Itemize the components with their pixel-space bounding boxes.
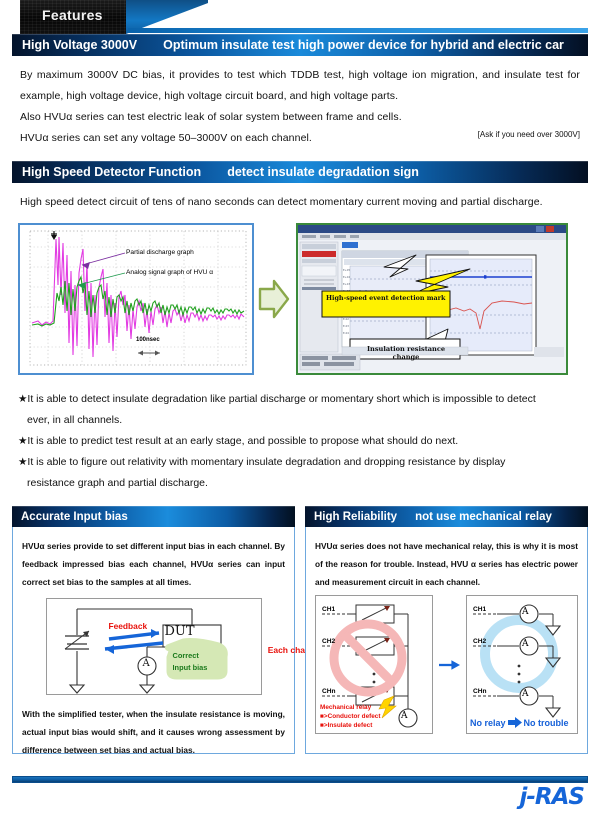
no-relay-diagram: CH1 CH2 CHn A A A No relay No trouble	[466, 595, 578, 734]
input-bias-schematic	[47, 599, 261, 694]
column-right-title-right: not use mechanical relay	[397, 511, 552, 523]
column-left-body: HVUα series provide to set different inp…	[12, 527, 295, 754]
ammeter-label-left: A	[143, 658, 150, 669]
scope-label-partial-discharge: Partial discharge graph	[126, 249, 194, 256]
relay-warning-text: Mechanical relay ■>Conductor defect ■>In…	[320, 703, 381, 730]
ammeter-label-n: A	[522, 689, 529, 699]
relay-channel-label-2: CH2	[322, 638, 335, 645]
footer-rule	[12, 776, 588, 783]
column-right-paragraph-top: HVUα series does not have mechanical rel…	[315, 537, 578, 591]
section1-title-right: Optimum insulate test high power device …	[137, 38, 564, 52]
column-right-title-left: High Reliability	[305, 511, 397, 523]
company-logo: j-RAS	[519, 784, 584, 810]
svg-text:E+03: E+03	[343, 282, 350, 286]
svg-text:E-02: E-02	[343, 317, 349, 321]
scope-scale-label: 100nsec	[136, 337, 160, 343]
bullet-3-line-2: resistance graph and partial discharge.	[18, 473, 582, 494]
scope-label-analog-signal: Analog signal graph of HVU α	[126, 269, 213, 276]
oscilloscope-panel: Partial discharge graph Analog signal gr…	[18, 223, 254, 375]
svg-text:E+05: E+05	[343, 268, 350, 272]
no-trouble-label: No trouble	[524, 718, 569, 728]
relay-warning-line-1: Mechanical relay	[320, 703, 381, 712]
transition-arrow-icon	[439, 650, 460, 680]
no-trouble-caption: No relay No trouble	[470, 717, 569, 728]
column-right-body: HVUα series does not have mechanical rel…	[305, 527, 588, 754]
dut-label: DUT	[165, 624, 195, 639]
column-left-header: Accurate Input bias	[12, 506, 295, 527]
right-arrow-icon	[254, 223, 296, 375]
relay-warning-line-3: ■>Insulate defect	[320, 721, 381, 730]
ammeter-label-2: A	[522, 639, 529, 649]
column-right-header: High Reliability not use mechanical rela…	[305, 506, 588, 527]
column-accurate-input-bias: Accurate Input bias HVUα series provide …	[12, 506, 295, 754]
column-left-paragraph-top: HVUα series provide to set different inp…	[22, 537, 285, 591]
section1-body: By maximum 3000V DC bias, it provides to…	[20, 65, 580, 149]
svg-text:E+04: E+04	[343, 275, 350, 279]
callout-high-speed-event: High-speed event detection mark	[326, 294, 450, 303]
features-tab-rule	[128, 28, 588, 33]
bullet-2: ★It is able to predict test result at an…	[18, 431, 582, 452]
software-screenshot-panel: E+05E+04 E+03E+02 E+01E+00 E-01E-02 E-03…	[296, 223, 568, 375]
section2-title-right: detect insulate degradation sign	[201, 165, 419, 179]
column-left-title: Accurate Input bias	[12, 511, 128, 523]
no-relay-label: No relay	[470, 718, 506, 728]
section1-paragraph-2: Also HVUα series can test electric leak …	[20, 107, 580, 128]
section-header-high-speed-detector: High Speed Detector Function detect insu…	[12, 161, 588, 183]
norelay-channel-label-2: CH2	[473, 638, 486, 645]
norelay-channel-label-1: CH1	[473, 606, 486, 613]
section2-lead-wrap: High speed detect circuit of tens of nan…	[20, 192, 580, 213]
oscilloscope-graph	[20, 225, 252, 373]
features-tab-label: Features	[42, 7, 103, 23]
svg-text:E-04: E-04	[343, 331, 349, 335]
bullet-3-line-1: ★It is able to figure out relativity wit…	[18, 452, 582, 473]
bubble-line-1: Correct	[173, 651, 199, 660]
section1-title-left: High Voltage 3000V	[12, 38, 137, 52]
bubble-line-2: Input bias	[173, 663, 208, 672]
bullet-1-line-1: ★It is able to detect insulate degradati…	[18, 389, 582, 410]
section-header-high-voltage: High Voltage 3000V Optimum insulate test…	[12, 34, 588, 56]
thick-right-arrow-icon	[508, 717, 522, 728]
column-left-paragraph-bottom: With the simplified tester, when the ins…	[22, 705, 285, 759]
bullet-1-line-2: ever, in all channels.	[18, 410, 582, 431]
feedback-label: Feedback	[109, 621, 148, 631]
figure-row: Partial discharge graph Analog signal gr…	[18, 223, 582, 375]
relay-comparison-diagram: CH1 CH2 CHn A Mechanical relay ■>Conduct…	[315, 595, 578, 734]
column-high-reliability: High Reliability not use mechanical rela…	[305, 506, 588, 754]
norelay-channel-label-n: CHn	[473, 688, 487, 695]
section2-lead: High speed detect circuit of tens of nan…	[20, 192, 580, 213]
mechanical-relay-diagram: CH1 CH2 CHn A Mechanical relay ■>Conduct…	[315, 595, 433, 734]
section1-paragraph-1: By maximum 3000V DC bias, it provides to…	[20, 65, 580, 107]
section1-paragraph-3: HVUα series can set any voltage 50–3000V…	[20, 128, 312, 149]
relay-channel-label-n: CHn	[322, 688, 336, 695]
callout-insulation-resistance: Insulation resistance change	[354, 345, 458, 361]
svg-text:E-03: E-03	[343, 324, 349, 328]
relay-channel-label-1: CH1	[322, 606, 335, 613]
ammeter-label-1: A	[522, 607, 529, 617]
section1-ask-note: [Ask if you need over 3000V]	[478, 130, 580, 139]
section2-title-left: High Speed Detector Function	[12, 165, 201, 179]
features-tab-bar: Features	[0, 0, 600, 34]
relay-warning-line-2: ■>Conductor defect	[320, 712, 381, 721]
bottom-columns: Accurate Input bias HVUα series provide …	[12, 506, 588, 754]
input-bias-circuit-diagram: DUT A Feedback Correct Input bias Each c…	[46, 598, 262, 695]
feature-bullets: ★It is able to detect insulate degradati…	[18, 389, 582, 494]
flow-arrow-container	[254, 223, 296, 375]
ammeter-label-relay: A	[401, 711, 408, 721]
